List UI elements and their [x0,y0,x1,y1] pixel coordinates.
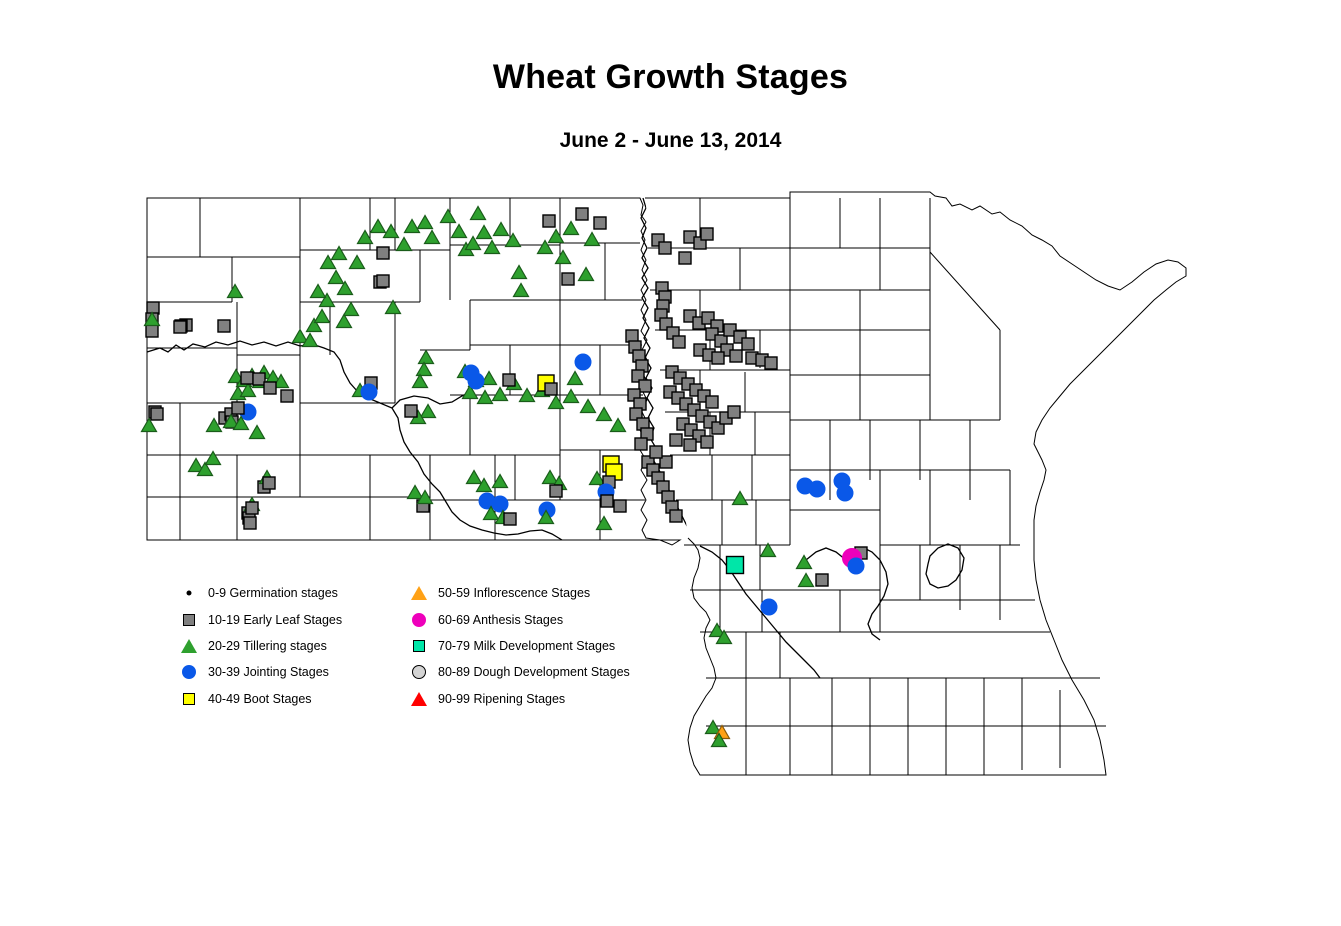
point-early-leaf [670,434,682,446]
point-early-leaf [377,275,389,287]
point-jointing [809,481,825,497]
legend-item: 0-9 Germination stages [176,580,342,606]
legend-item: 20-29 Tillering stages [176,633,342,659]
point-early-leaf [701,228,713,240]
point-early-leaf [281,390,293,402]
point-early-leaf [742,338,754,350]
point-early-leaf [670,510,682,522]
point-early-leaf [765,357,777,369]
red-triangle-icon [406,689,432,709]
legend-right-column: 50-59 Inflorescence Stages60-69 Anthesis… [406,580,630,712]
point-jointing [848,558,864,574]
point-early-leaf [405,405,417,417]
legend-item-label: 90-99 Ripening Stages [438,692,565,706]
point-milk [727,557,744,574]
wheat-growth-stages-map-page: Wheat Growth Stages June 2 - June 13, 20… [0,0,1341,926]
point-early-leaf [503,374,515,386]
legend-item: 30-39 Jointing Stages [176,659,342,685]
point-early-leaf [650,446,662,458]
point-early-leaf [146,325,158,337]
green-triangle-icon [176,636,202,656]
legend-item: 50-59 Inflorescence Stages [406,580,630,606]
point-early-leaf [594,217,606,229]
point-early-leaf [550,485,562,497]
magenta-circle-icon [406,610,432,630]
point-jointing [837,485,853,501]
point-early-leaf [673,336,685,348]
legend-item: 10-19 Early Leaf Stages [176,606,342,632]
point-early-leaf [601,495,613,507]
point-jointing [361,384,377,400]
legend-item-label: 10-19 Early Leaf Stages [208,613,342,627]
point-early-leaf [264,382,276,394]
point-early-leaf [626,330,638,342]
legend-item-label: 80-89 Dough Development Stages [438,665,630,679]
map-container[interactable] [0,0,1341,926]
point-early-leaf [706,396,718,408]
point-early-leaf [232,402,244,414]
point-early-leaf [543,215,555,227]
legend-item-label: 40-49 Boot Stages [208,692,312,706]
point-early-leaf [816,574,828,586]
map-svg [0,0,1341,926]
point-early-leaf [253,373,265,385]
legend-item: 80-89 Dough Development Stages [406,659,630,685]
legend-item-label: 30-39 Jointing Stages [208,665,329,679]
point-early-leaf [562,273,574,285]
legend-item-label: 0-9 Germination stages [208,586,338,600]
legend: 0-9 Germination stages10-19 Early Leaf S… [176,580,646,712]
orange-triangle-icon [406,583,432,603]
blue-circle-icon [176,662,202,682]
legend-item-label: 60-69 Anthesis Stages [438,613,563,627]
legend-item-label: 70-79 Milk Development Stages [438,639,615,653]
point-jointing [468,373,484,389]
point-early-leaf [701,436,713,448]
point-early-leaf [576,208,588,220]
point-early-leaf [635,438,647,450]
legend-item: 90-99 Ripening Stages [406,686,630,712]
point-early-leaf [218,320,230,332]
point-early-leaf [614,500,626,512]
yellow-square-icon [176,689,202,709]
point-early-leaf [639,380,651,392]
point-early-leaf [377,247,389,259]
point-jointing [492,496,508,512]
lightgray-circle-icon [406,662,432,682]
point-early-leaf [263,477,275,489]
legend-item: 60-69 Anthesis Stages [406,606,630,632]
point-early-leaf [246,502,258,514]
gray-square-icon [176,610,202,630]
point-early-leaf [712,352,724,364]
point-early-leaf [147,302,159,314]
legend-item: 40-49 Boot Stages [176,686,342,712]
point-early-leaf [728,406,740,418]
point-jointing [575,354,591,370]
springgreen-square-icon [406,636,432,656]
point-early-leaf [174,321,186,333]
point-early-leaf [244,517,256,529]
point-early-leaf [659,242,671,254]
point-early-leaf [730,350,742,362]
point-early-leaf [504,513,516,525]
legend-item: 70-79 Milk Development Stages [406,633,630,659]
point-jointing [761,599,777,615]
black-dot-icon [176,583,202,603]
point-early-leaf [151,408,163,420]
point-early-leaf [241,372,253,384]
legend-item-label: 50-59 Inflorescence Stages [438,586,590,600]
point-early-leaf [545,383,557,395]
point-early-leaf [679,252,691,264]
point-early-leaf [684,439,696,451]
legend-item-label: 20-29 Tillering stages [208,639,327,653]
legend-left-column: 0-9 Germination stages10-19 Early Leaf S… [176,580,342,712]
